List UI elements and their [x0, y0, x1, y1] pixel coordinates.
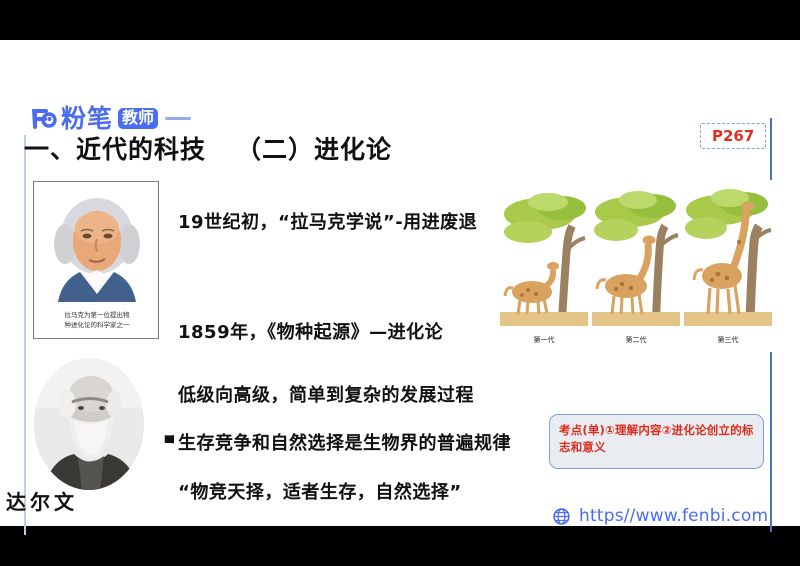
- logo-wordmark: 粉笔: [61, 106, 113, 131]
- slide-left-accent-line: [24, 135, 26, 535]
- lamarck-caption-line1: 拉马克为第一位提出物: [34, 311, 159, 320]
- exam-point-note-box: 考点(单)①理解内容②进化论创立的标志和意义: [549, 414, 764, 469]
- logo-badge: 教师: [118, 108, 158, 129]
- page-title-part1: 一、近代的科技: [24, 135, 206, 164]
- giraffe-caption-1: 第一代: [500, 335, 588, 345]
- body-line-survival-quote: “物竞天择，适者生存，自然选择”: [178, 478, 462, 504]
- lamarck-caption: 拉马克为第一位提出物 种进化论的科学家之一: [34, 311, 159, 330]
- giraffe-caption-3: 第三代: [684, 335, 772, 345]
- page-title-part2: （二）进化论: [236, 135, 392, 164]
- lamarck-caption-line2: 种进化论的科学家之一: [34, 321, 159, 330]
- darwin-label: 达尔文: [6, 486, 78, 515]
- footer-url-text: https//www.fenbi.com: [579, 506, 768, 526]
- brand-logo: 粉笔 教师: [28, 104, 191, 132]
- body-line-origin-of-species: 1859年，《物种起源》—进化论: [178, 318, 443, 344]
- slide-canvas: 粉笔 教师 一、近代的科技（二）进化论 P267: [0, 40, 800, 526]
- giraffe-panel-1: 第一代: [500, 180, 588, 345]
- giraffe-panel-3: 第三代: [684, 180, 772, 345]
- footer-url-block: https//www.fenbi.com: [553, 506, 768, 526]
- darwin-portrait: [34, 358, 144, 498]
- body-line-progression: 低级向高级，简单到复杂的发展过程: [178, 381, 474, 407]
- lamarck-portrait-image: [34, 184, 159, 302]
- logo-underline-decor: [165, 117, 191, 120]
- note-line1: 考点(单)①理解内容②进化论创立: [559, 423, 730, 437]
- screenshot-root: 粉笔 教师 一、近代的科技（二）进化论 P267: [0, 0, 800, 566]
- body-line-natural-selection-law: 生存竞争和自然选择是生物界的普遍规律: [178, 429, 511, 455]
- body-line-lamarck-theory: 19世纪初，“拉马克学说”-用进废退: [178, 208, 477, 234]
- fb-logo-icon: [28, 104, 58, 132]
- giraffe-panel-2: 第二代: [592, 180, 680, 345]
- lamarck-portrait-card: 拉马克为第一位提出物 种进化论的科学家之一: [33, 181, 159, 339]
- giraffe-evolution-illustration: 第一代: [500, 180, 772, 345]
- globe-icon: [553, 508, 570, 525]
- darwin-portrait-image: [34, 358, 144, 490]
- page-number-badge: P267: [700, 123, 766, 149]
- slide-right-accent-line-bottom: [770, 352, 772, 532]
- page-title: 一、近代的科技（二）进化论: [24, 130, 444, 166]
- giraffe-caption-2: 第二代: [592, 335, 680, 345]
- curly-brace-decor: {: [146, 362, 174, 510]
